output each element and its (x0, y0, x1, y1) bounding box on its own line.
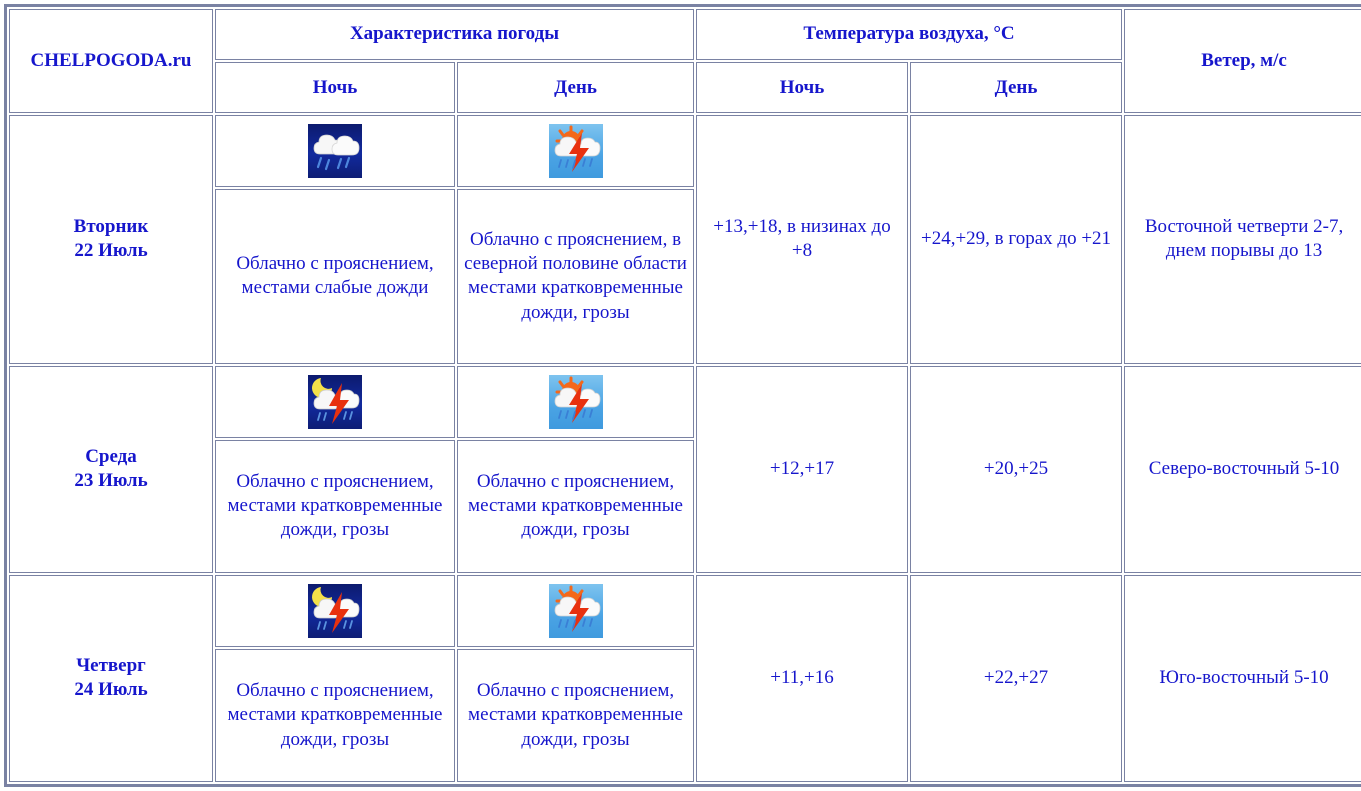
wind-0: Восточной четверти 2-7, днем порывы до 1… (1124, 115, 1361, 363)
night-desc-0: Облачно с прояснением, местами слабые до… (215, 189, 455, 363)
day-temp-2: +22,+27 (910, 575, 1122, 782)
day-desc-1: Облачно с прояснением, местами кратковре… (457, 440, 694, 573)
day-name-2: Четверг (76, 655, 146, 676)
day-name-1: Среда (85, 446, 137, 467)
day-label-0: Вторник 22 Июль (9, 115, 213, 363)
header-temp-night: Ночь (696, 62, 908, 113)
night-weather-icon-1 (215, 366, 455, 438)
night-temp-1: +12,+17 (696, 366, 908, 573)
table-row: Среда 23 Июль (9, 366, 1361, 438)
night-desc-1: Облачно с прояснением, местами кратковре… (215, 440, 455, 573)
sun-cloud-thunderstorm-icon (549, 375, 603, 429)
header-wind-group: Ветер, м/с (1124, 9, 1361, 113)
sun-cloud-thunderstorm-icon (549, 124, 603, 178)
day-weather-icon-0 (457, 115, 694, 187)
night-weather-icon-2 (215, 575, 455, 647)
header-weather-day: День (457, 62, 694, 113)
night-desc-2: Облачно с прояснением, местами кратковре… (215, 649, 455, 782)
table-row: Вторник 22 Июль (9, 115, 1361, 187)
day-desc-2: Облачно с прояснением, местами кратковре… (457, 649, 694, 782)
day-date-1: 23 Июль (74, 470, 147, 491)
day-temp-0: +24,+29, в горах до +21 (910, 115, 1122, 363)
wind-2: Юго-восточный 5-10 (1124, 575, 1361, 782)
day-weather-icon-2 (457, 575, 694, 647)
header-weather-night: Ночь (215, 62, 455, 113)
night-temp-0: +13,+18, в низинах до +8 (696, 115, 908, 363)
weather-forecast-page: CHELPOGODA.ru Характеристика погоды Темп… (0, 0, 1361, 791)
day-label-2: Четверг 24 Июль (9, 575, 213, 782)
night-weather-icon-0 (215, 115, 455, 187)
site-logo[interactable]: CHELPOGODA.ru (9, 9, 213, 113)
header-temperature-group: Температура воздуха, °C (696, 9, 1122, 60)
weather-forecast-table: CHELPOGODA.ru Характеристика погоды Темп… (4, 4, 1361, 787)
wind-1: Северо-восточный 5-10 (1124, 366, 1361, 573)
day-label-1: Среда 23 Июль (9, 366, 213, 573)
table-row: Четверг 24 Июль (9, 575, 1361, 647)
header-temp-day: День (910, 62, 1122, 113)
cloudy-rain-night-icon (308, 124, 362, 178)
sun-cloud-thunderstorm-icon (549, 584, 603, 638)
table-header-row-1: CHELPOGODA.ru Характеристика погоды Темп… (9, 9, 1361, 60)
day-desc-0: Облачно с прояснением, в северной полови… (457, 189, 694, 363)
day-weather-icon-1 (457, 366, 694, 438)
day-date-2: 24 Июль (74, 679, 147, 700)
header-weather-group: Характеристика погоды (215, 9, 694, 60)
day-name-0: Вторник (74, 216, 149, 237)
day-date-0: 22 Июль (74, 240, 147, 261)
night-temp-2: +11,+16 (696, 575, 908, 782)
moon-cloud-thunderstorm-icon (308, 375, 362, 429)
day-temp-1: +20,+25 (910, 366, 1122, 573)
moon-cloud-thunderstorm-icon (308, 584, 362, 638)
